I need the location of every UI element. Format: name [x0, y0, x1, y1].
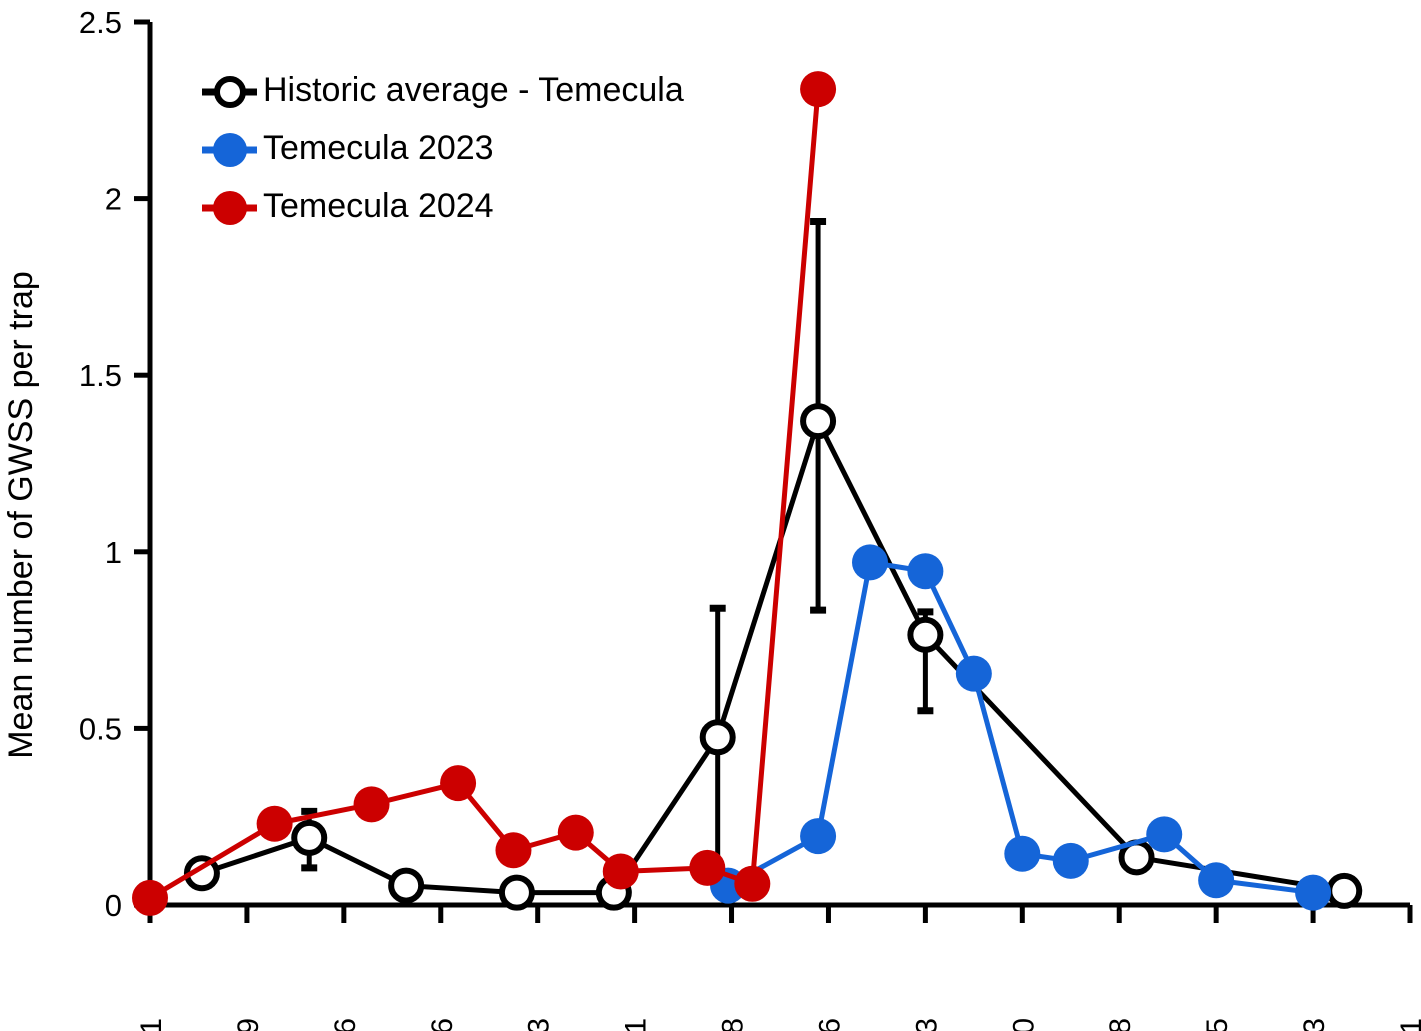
data-point-filled-circle — [800, 818, 836, 854]
data-point-filled-circle — [257, 806, 293, 842]
legend-label: Temecula 2023 — [263, 129, 494, 167]
x-tick-label: 1/1 — [135, 1018, 168, 1031]
x-tick-label: 12/3 — [1298, 1018, 1331, 1031]
chart-figure: Mean number of GWSS per trap 00.511.522.… — [0, 0, 1421, 1031]
legend-label: Historic average - Temecula — [263, 71, 684, 109]
x-tick-label: 7/16 — [813, 1018, 846, 1031]
data-point-filled-circle — [495, 832, 531, 868]
data-point-filled-circle — [800, 71, 836, 107]
data-point-open-circle — [294, 823, 324, 853]
data-point-filled-circle — [956, 656, 992, 692]
y-tick-label: 0 — [105, 888, 122, 923]
x-tick-label: 6/18 — [717, 1018, 750, 1031]
data-point-open-circle — [502, 878, 532, 908]
y-tick-label: 1 — [105, 535, 122, 570]
x-tick-label: 10/8 — [1104, 1018, 1137, 1031]
data-point-filled-circle — [1198, 862, 1234, 898]
data-point-filled-circle — [852, 544, 888, 580]
data-point-filled-circle — [734, 866, 770, 902]
data-point-filled-circle — [1004, 836, 1040, 872]
data-point-open-circle — [1329, 876, 1359, 906]
legend-marker-filled-circle — [213, 133, 247, 167]
legend-marker-filled-circle — [213, 191, 247, 225]
data-point-filled-circle — [907, 553, 943, 589]
y-axis-title: Mean number of GWSS per trap — [2, 271, 40, 759]
legend-item-2[interactable]: Temecula 2023 — [202, 129, 494, 167]
data-point-filled-circle — [1053, 843, 1089, 879]
legend-item-3[interactable]: Temecula 2024 — [202, 187, 494, 225]
data-point-filled-circle — [1146, 816, 1182, 852]
data-point-filled-circle — [603, 853, 639, 889]
x-tick-label: 9/10 — [1007, 1018, 1040, 1031]
chart-legend: Historic average - TemeculaTemecula 2023… — [202, 71, 684, 225]
legend-marker-open-circle — [217, 79, 243, 105]
x-tick-label: 4/23 — [523, 1018, 556, 1031]
y-axis-ticks: 00.511.522.5 — [79, 5, 150, 923]
y-tick-label: 2 — [105, 182, 122, 217]
data-point-open-circle — [391, 871, 421, 901]
data-point-open-circle — [910, 620, 940, 650]
y-axis-title-text: Mean number of GWSS per trap — [2, 271, 40, 759]
data-point-open-circle — [803, 406, 833, 436]
data-point-filled-circle — [354, 786, 390, 822]
x-tick-label: 1/29 — [232, 1018, 265, 1031]
data-point-open-circle — [703, 722, 733, 752]
x-tick-label: 2/26 — [329, 1018, 362, 1031]
x-tick-label: 5/21 — [620, 1018, 653, 1031]
x-tick-label: 3/26 — [426, 1018, 459, 1031]
data-point-filled-circle — [1295, 875, 1331, 911]
y-tick-label: 0.5 — [79, 711, 122, 746]
y-tick-label: 1.5 — [79, 358, 122, 393]
x-tick-label: 12/31 — [1395, 1018, 1421, 1031]
data-point-filled-circle — [689, 850, 725, 886]
data-point-filled-circle — [440, 765, 476, 801]
x-tick-label: 11/5 — [1201, 1018, 1234, 1031]
data-point-filled-circle — [132, 880, 168, 916]
data-point-filled-circle — [558, 815, 594, 851]
legend-label: Temecula 2024 — [263, 187, 494, 225]
legend-item-1[interactable]: Historic average - Temecula — [202, 71, 684, 109]
x-tick-label: 8/13 — [910, 1018, 943, 1031]
series-2 — [710, 544, 1331, 910]
x-axis-ticks: 1/11/292/263/264/235/216/187/168/139/101… — [135, 905, 1421, 1031]
y-tick-label: 2.5 — [79, 5, 122, 40]
chart-canvas: Mean number of GWSS per trap 00.511.522.… — [0, 0, 1421, 1031]
